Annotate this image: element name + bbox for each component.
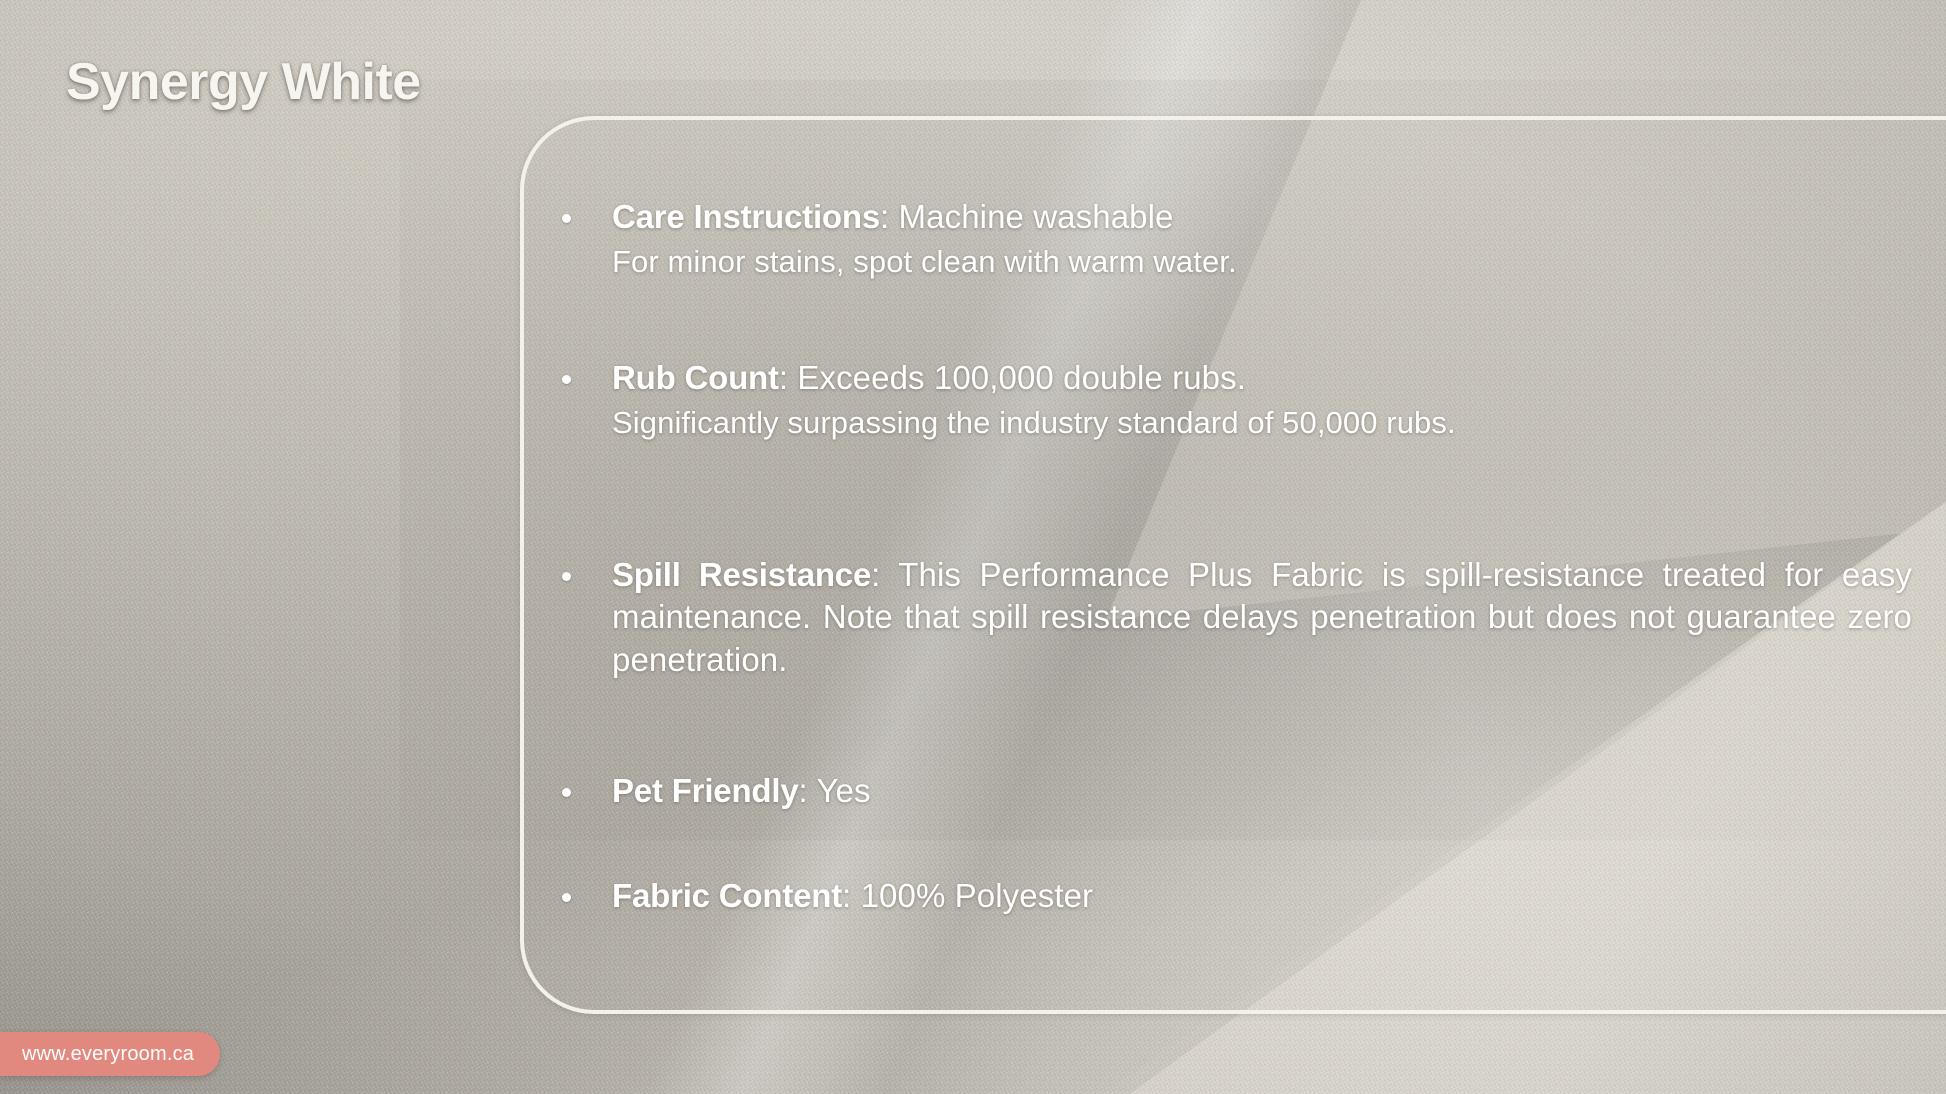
spec-line: Rub Count: Exceeds 100,000 double rubs. <box>612 357 1912 400</box>
spec-term: Care Instructions <box>612 198 880 235</box>
spacer <box>612 283 1912 357</box>
spec-separator: : <box>880 198 889 235</box>
spec-list: Care Instructions: Machine washable For … <box>612 196 1912 918</box>
spec-value: Yes <box>808 772 871 809</box>
spec-line: Spill Resistance: This Performance Plus … <box>612 554 1912 683</box>
spec-term: Pet Friendly <box>612 772 798 809</box>
bullet-dot-icon <box>562 214 571 223</box>
spacer <box>612 444 1912 554</box>
spec-line: Fabric Content: 100% Polyester <box>612 875 1912 918</box>
website-url-badge[interactable]: www.everyroom.ca <box>0 1032 220 1076</box>
spec-term: Spill Resistance <box>612 556 871 593</box>
spec-value: Exceeds 100,000 double rubs. <box>788 359 1246 396</box>
spec-item-pet-friendly: Pet Friendly: Yes <box>612 770 1912 813</box>
spec-term: Fabric Content <box>612 877 842 914</box>
bullet-dot-icon <box>562 375 571 384</box>
spec-line: Pet Friendly: Yes <box>612 770 1912 813</box>
spec-separator: : <box>871 556 880 593</box>
spec-separator: : <box>842 877 851 914</box>
spec-value: Machine washable <box>889 198 1173 235</box>
page-title: Synergy White <box>66 52 421 112</box>
spacer <box>612 813 1912 875</box>
product-spec-slide: Synergy White Care Instructions: Machine… <box>0 0 1946 1094</box>
spec-item-spill-resistance: Spill Resistance: This Performance Plus … <box>612 554 1912 683</box>
spec-item-rub-count: Rub Count: Exceeds 100,000 double rubs. … <box>612 357 1912 444</box>
website-url-label: www.everyroom.ca <box>22 1043 194 1066</box>
spec-separator: : <box>779 359 788 396</box>
spec-subline: For minor stains, spot clean with warm w… <box>612 242 1912 283</box>
bullet-dot-icon <box>562 572 571 581</box>
spec-subline: Significantly surpassing the industry st… <box>612 403 1912 444</box>
spacer <box>612 682 1912 770</box>
spec-line: Care Instructions: Machine washable <box>612 196 1912 239</box>
spec-value: 100% Polyester <box>851 877 1093 914</box>
spec-separator: : <box>798 772 807 809</box>
spec-term: Rub Count <box>612 359 779 396</box>
spec-item-fabric-content: Fabric Content: 100% Polyester <box>612 875 1912 918</box>
spec-item-care-instructions: Care Instructions: Machine washable For … <box>612 196 1912 283</box>
